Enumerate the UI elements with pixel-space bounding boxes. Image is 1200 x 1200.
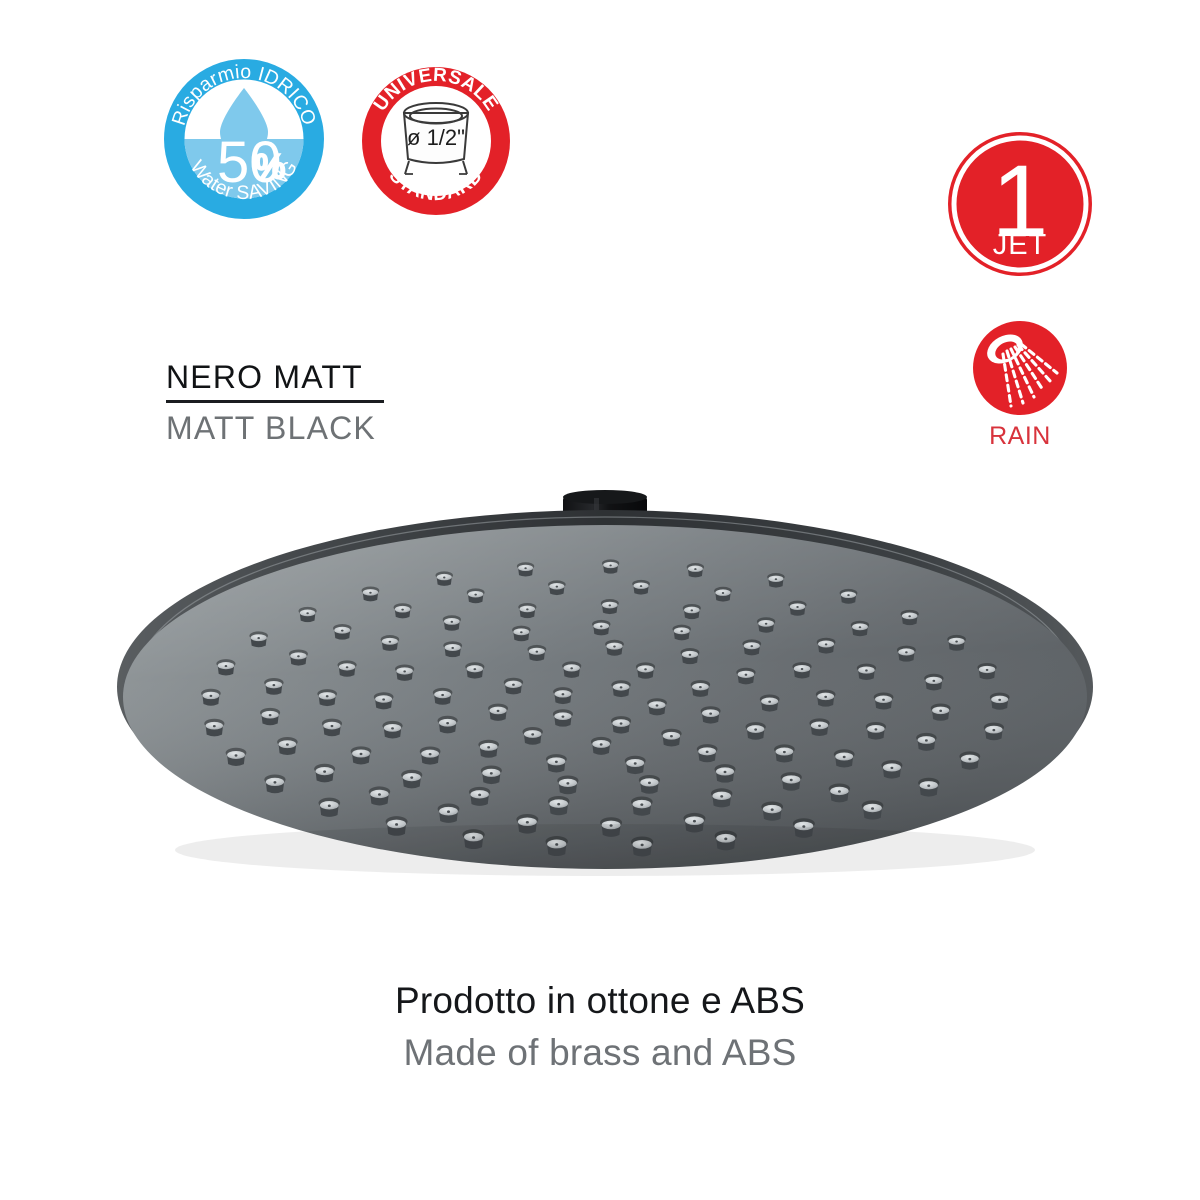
nozzle-pin	[984, 723, 1004, 741]
nozzle-pin	[481, 766, 502, 785]
nozzle-pin	[767, 573, 785, 588]
nozzle-pin	[322, 719, 342, 737]
nozzle-pin	[761, 801, 783, 820]
nozzle-pin	[809, 718, 829, 736]
nozzle-pin	[318, 798, 340, 817]
nozzle-pin	[317, 689, 337, 706]
nozzle-pin	[746, 722, 766, 740]
nozzle-pin	[857, 664, 876, 680]
nozzle-pin	[546, 754, 567, 772]
nozzle-pin	[443, 615, 461, 630]
nozzle-pin	[792, 662, 811, 678]
nozzle-pin	[557, 775, 578, 794]
nozzle-pin	[201, 689, 221, 706]
nozzle-pin	[701, 706, 721, 723]
nozzle-pin	[216, 659, 235, 675]
caption-it: Prodotto in ottone e ABS	[0, 975, 1200, 1027]
nozzle-pin	[351, 746, 372, 764]
finish-name-en: MATT BLACK	[166, 408, 466, 448]
nozzle-pin	[381, 635, 400, 651]
product-sheet: 50 % Risparmio IDRICO Water SAVING	[0, 0, 1200, 1200]
nozzle-pin	[714, 587, 732, 602]
nozzle-pin	[333, 624, 351, 640]
nozzle-pin	[625, 756, 646, 774]
nozzle-pin	[918, 778, 939, 797]
nozzle-pin	[959, 751, 980, 769]
nozzle-pin	[260, 708, 280, 725]
nozzle-pin	[226, 748, 247, 766]
nozzle-pin	[639, 775, 660, 794]
nozzle-pin	[691, 680, 710, 697]
nozzle-pin	[990, 693, 1010, 710]
nozzle-pin	[264, 678, 283, 695]
nozzle-pin	[636, 662, 655, 678]
nozzle-pin	[504, 678, 523, 695]
nozzle-pin	[438, 804, 460, 823]
nozzle-pin	[433, 688, 453, 705]
water-saving-badge: 50 % Risparmio IDRICO Water SAVING	[163, 58, 325, 220]
nozzle-pin	[467, 588, 485, 603]
nozzle-pin	[591, 737, 612, 755]
nozzle-pin	[947, 635, 966, 651]
rain-label: RAIN	[947, 422, 1093, 451]
finish-divider	[166, 400, 384, 403]
nozzle-pin	[401, 770, 422, 789]
nozzle-pin	[924, 674, 943, 691]
nozzle-pin	[394, 603, 412, 618]
nozzle-pin	[553, 709, 573, 726]
nozzle-pin	[517, 562, 534, 576]
nozzle-pin	[465, 662, 484, 678]
nozzle-pin	[204, 719, 224, 737]
nozzle-pin	[840, 589, 858, 604]
nozzle-pin	[631, 797, 653, 816]
nozzle-pin	[672, 625, 690, 641]
nozzle-pin	[518, 603, 536, 618]
nozzle-pin	[478, 740, 499, 758]
nozzle-pin	[362, 586, 380, 601]
nozzle-pin	[977, 663, 996, 679]
nozzle-pin	[488, 704, 508, 721]
nozzle-pin	[916, 733, 936, 751]
nozzle-pin	[512, 626, 530, 642]
nozzle-pin	[697, 744, 718, 762]
nozzle-pin	[632, 580, 650, 595]
nozzle-pin	[647, 698, 667, 715]
nozzle-pin	[931, 704, 951, 721]
nozzle-pin	[736, 668, 755, 685]
nozzle-pin	[901, 610, 919, 625]
nozzle-pin	[605, 640, 624, 656]
nozzle-pin	[611, 716, 631, 734]
nozzle-pin	[395, 664, 414, 680]
nozzle-pin	[789, 601, 807, 616]
nozzle-pin	[760, 695, 780, 712]
jet-count-label: JET	[993, 229, 1048, 261]
nozzle-pin	[438, 716, 458, 734]
nozzle-pin	[289, 649, 308, 665]
nozzle-pin	[443, 641, 462, 657]
nozzle-pin	[601, 599, 619, 614]
nozzle-pin	[881, 760, 902, 778]
nozzle-pin	[592, 620, 610, 636]
nozzle-pin	[817, 638, 836, 654]
nozzle-pin	[277, 737, 298, 755]
nozzle-pin	[816, 690, 836, 707]
nozzle-pin	[681, 648, 700, 664]
nozzle-pin	[897, 646, 916, 662]
nozzle-pin	[862, 800, 884, 819]
nozzle-pin	[687, 563, 704, 577]
nozzle-pin	[553, 687, 573, 704]
nozzle-pin	[602, 559, 619, 573]
nozzle-pin	[469, 787, 490, 806]
nozzle-pin	[661, 729, 681, 747]
nozzle-pin	[249, 631, 268, 647]
finish-name-it: NERO MATT	[166, 357, 466, 397]
jet-count-badge: 1 JET	[947, 131, 1093, 277]
nozzle-pin	[866, 722, 886, 740]
nozzle-pin	[548, 580, 566, 595]
nozzle-pin	[562, 661, 581, 677]
finish-label-block: NERO MATT MATT BLACK	[166, 357, 466, 448]
nozzle-pin	[299, 607, 317, 622]
rain-spray-badge	[967, 320, 1073, 416]
nozzle-pin	[523, 727, 543, 745]
showerhead-face	[123, 525, 1087, 869]
material-caption: Prodotto in ottone e ABS Made of brass a…	[0, 975, 1200, 1079]
nozzle-pin	[382, 721, 402, 739]
caption-en: Made of brass and ABS	[0, 1027, 1200, 1079]
nozzle-pin	[338, 660, 357, 676]
nozzle-pin	[874, 692, 894, 709]
nozzle-pin	[420, 746, 441, 764]
nozzle-pin	[683, 604, 701, 619]
nozzle-pin	[264, 774, 285, 793]
nozzle-pin	[374, 692, 394, 709]
nozzle-pin	[834, 749, 855, 767]
nozzle-pin	[774, 744, 795, 762]
nozzle-pin	[611, 680, 630, 697]
nozzle-pin	[369, 786, 390, 805]
nozzle-pin	[436, 571, 453, 586]
nozzle-pin	[781, 772, 802, 791]
product-image	[100, 480, 1110, 900]
nozzle-pin	[711, 788, 732, 807]
nozzle-pin	[742, 639, 761, 655]
nozzle-pin	[757, 617, 775, 632]
nozzle-pin	[548, 796, 570, 815]
nozzle-pin	[715, 764, 736, 783]
nozzle-pin	[829, 783, 850, 802]
nozzle-pin	[851, 621, 869, 637]
universal-standard-badge: ø 1/2" UNIVERSALE STANDARD	[361, 66, 511, 216]
nozzle-pin	[314, 764, 335, 783]
face-bottom-shadow	[175, 824, 1035, 876]
universal-diameter-text: ø 1/2"	[407, 125, 465, 150]
nozzle-pin	[527, 645, 546, 661]
